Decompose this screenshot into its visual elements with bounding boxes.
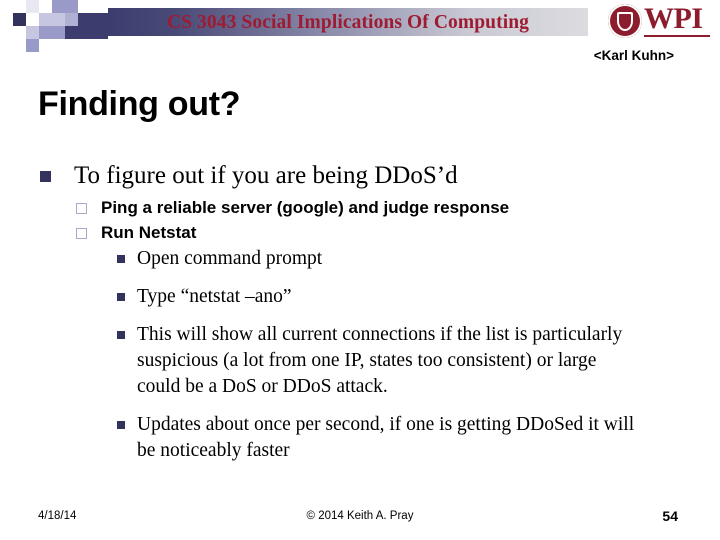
header-decor-square	[39, 0, 52, 13]
bullet-square-icon	[117, 255, 125, 263]
wpi-underline-rule	[644, 35, 710, 37]
bullet-text: Open command prompt	[137, 246, 637, 272]
header-decor-square	[26, 0, 39, 13]
header-decor-square	[52, 13, 65, 26]
header-decor-square	[52, 0, 65, 13]
bullet-text: This will show all current connections i…	[137, 322, 637, 400]
header-decor-square	[65, 26, 108, 39]
bullet-level-2: Run Netstat	[0, 221, 720, 244]
bullet-square-icon	[40, 171, 51, 182]
header-decor-square	[26, 39, 39, 52]
bullet-level-2: Ping a reliable server (google) and judg…	[0, 196, 720, 219]
bullet-level-3: Open command prompt	[0, 246, 720, 272]
slide-body: To figure out if you are being DDoS’dPin…	[0, 160, 720, 476]
bullet-level-3: This will show all current connections i…	[0, 322, 720, 400]
page-title: Finding out?	[38, 84, 240, 124]
header-decor-square	[65, 13, 78, 26]
footer-copyright: © 2014 Keith A. Pray	[0, 510, 720, 522]
header-decor-square	[26, 26, 39, 39]
header-decor-square	[39, 13, 52, 26]
bullet-text: Run Netstat	[101, 221, 720, 244]
header-decor-square	[52, 26, 65, 39]
header-decor-square	[0, 0, 13, 13]
bullet-square-icon	[117, 293, 125, 301]
wpi-shield-icon	[619, 14, 631, 29]
presenter-name: <Karl Kuhn>	[594, 48, 674, 63]
wpi-seal-icon	[608, 4, 642, 38]
bullet-hollow-square-icon	[76, 203, 87, 214]
wpi-logo: WPI	[608, 2, 712, 42]
header-decor-square	[13, 13, 26, 26]
bullet-square-icon	[117, 331, 125, 339]
bullet-text: To figure out if you are being DDoS’d	[74, 160, 720, 192]
bullet-square-icon	[117, 421, 125, 429]
bullet-text: Updates about once per second, if one is…	[137, 412, 637, 464]
bullet-text: Type “netstat –ano”	[137, 284, 637, 310]
header-decor-square	[65, 0, 78, 13]
header-decor-square	[39, 26, 52, 39]
bullet-level-3: Type “netstat –ano”	[0, 284, 720, 310]
header-decor-square	[13, 0, 26, 13]
bullet-level-1: To figure out if you are being DDoS’d	[0, 160, 720, 192]
footer-page-number: 54	[662, 508, 678, 524]
bullet-hollow-square-icon	[76, 228, 87, 239]
bullet-text: Ping a reliable server (google) and judg…	[101, 196, 720, 219]
course-title: CS 3043 Social Implications Of Computing	[108, 9, 588, 36]
header-decor-square	[78, 13, 108, 26]
bullet-level-3: Updates about once per second, if one is…	[0, 412, 720, 464]
slide-header: CS 3043 Social Implications Of Computing…	[0, 0, 720, 48]
wpi-wordmark: WPI	[644, 3, 703, 34]
